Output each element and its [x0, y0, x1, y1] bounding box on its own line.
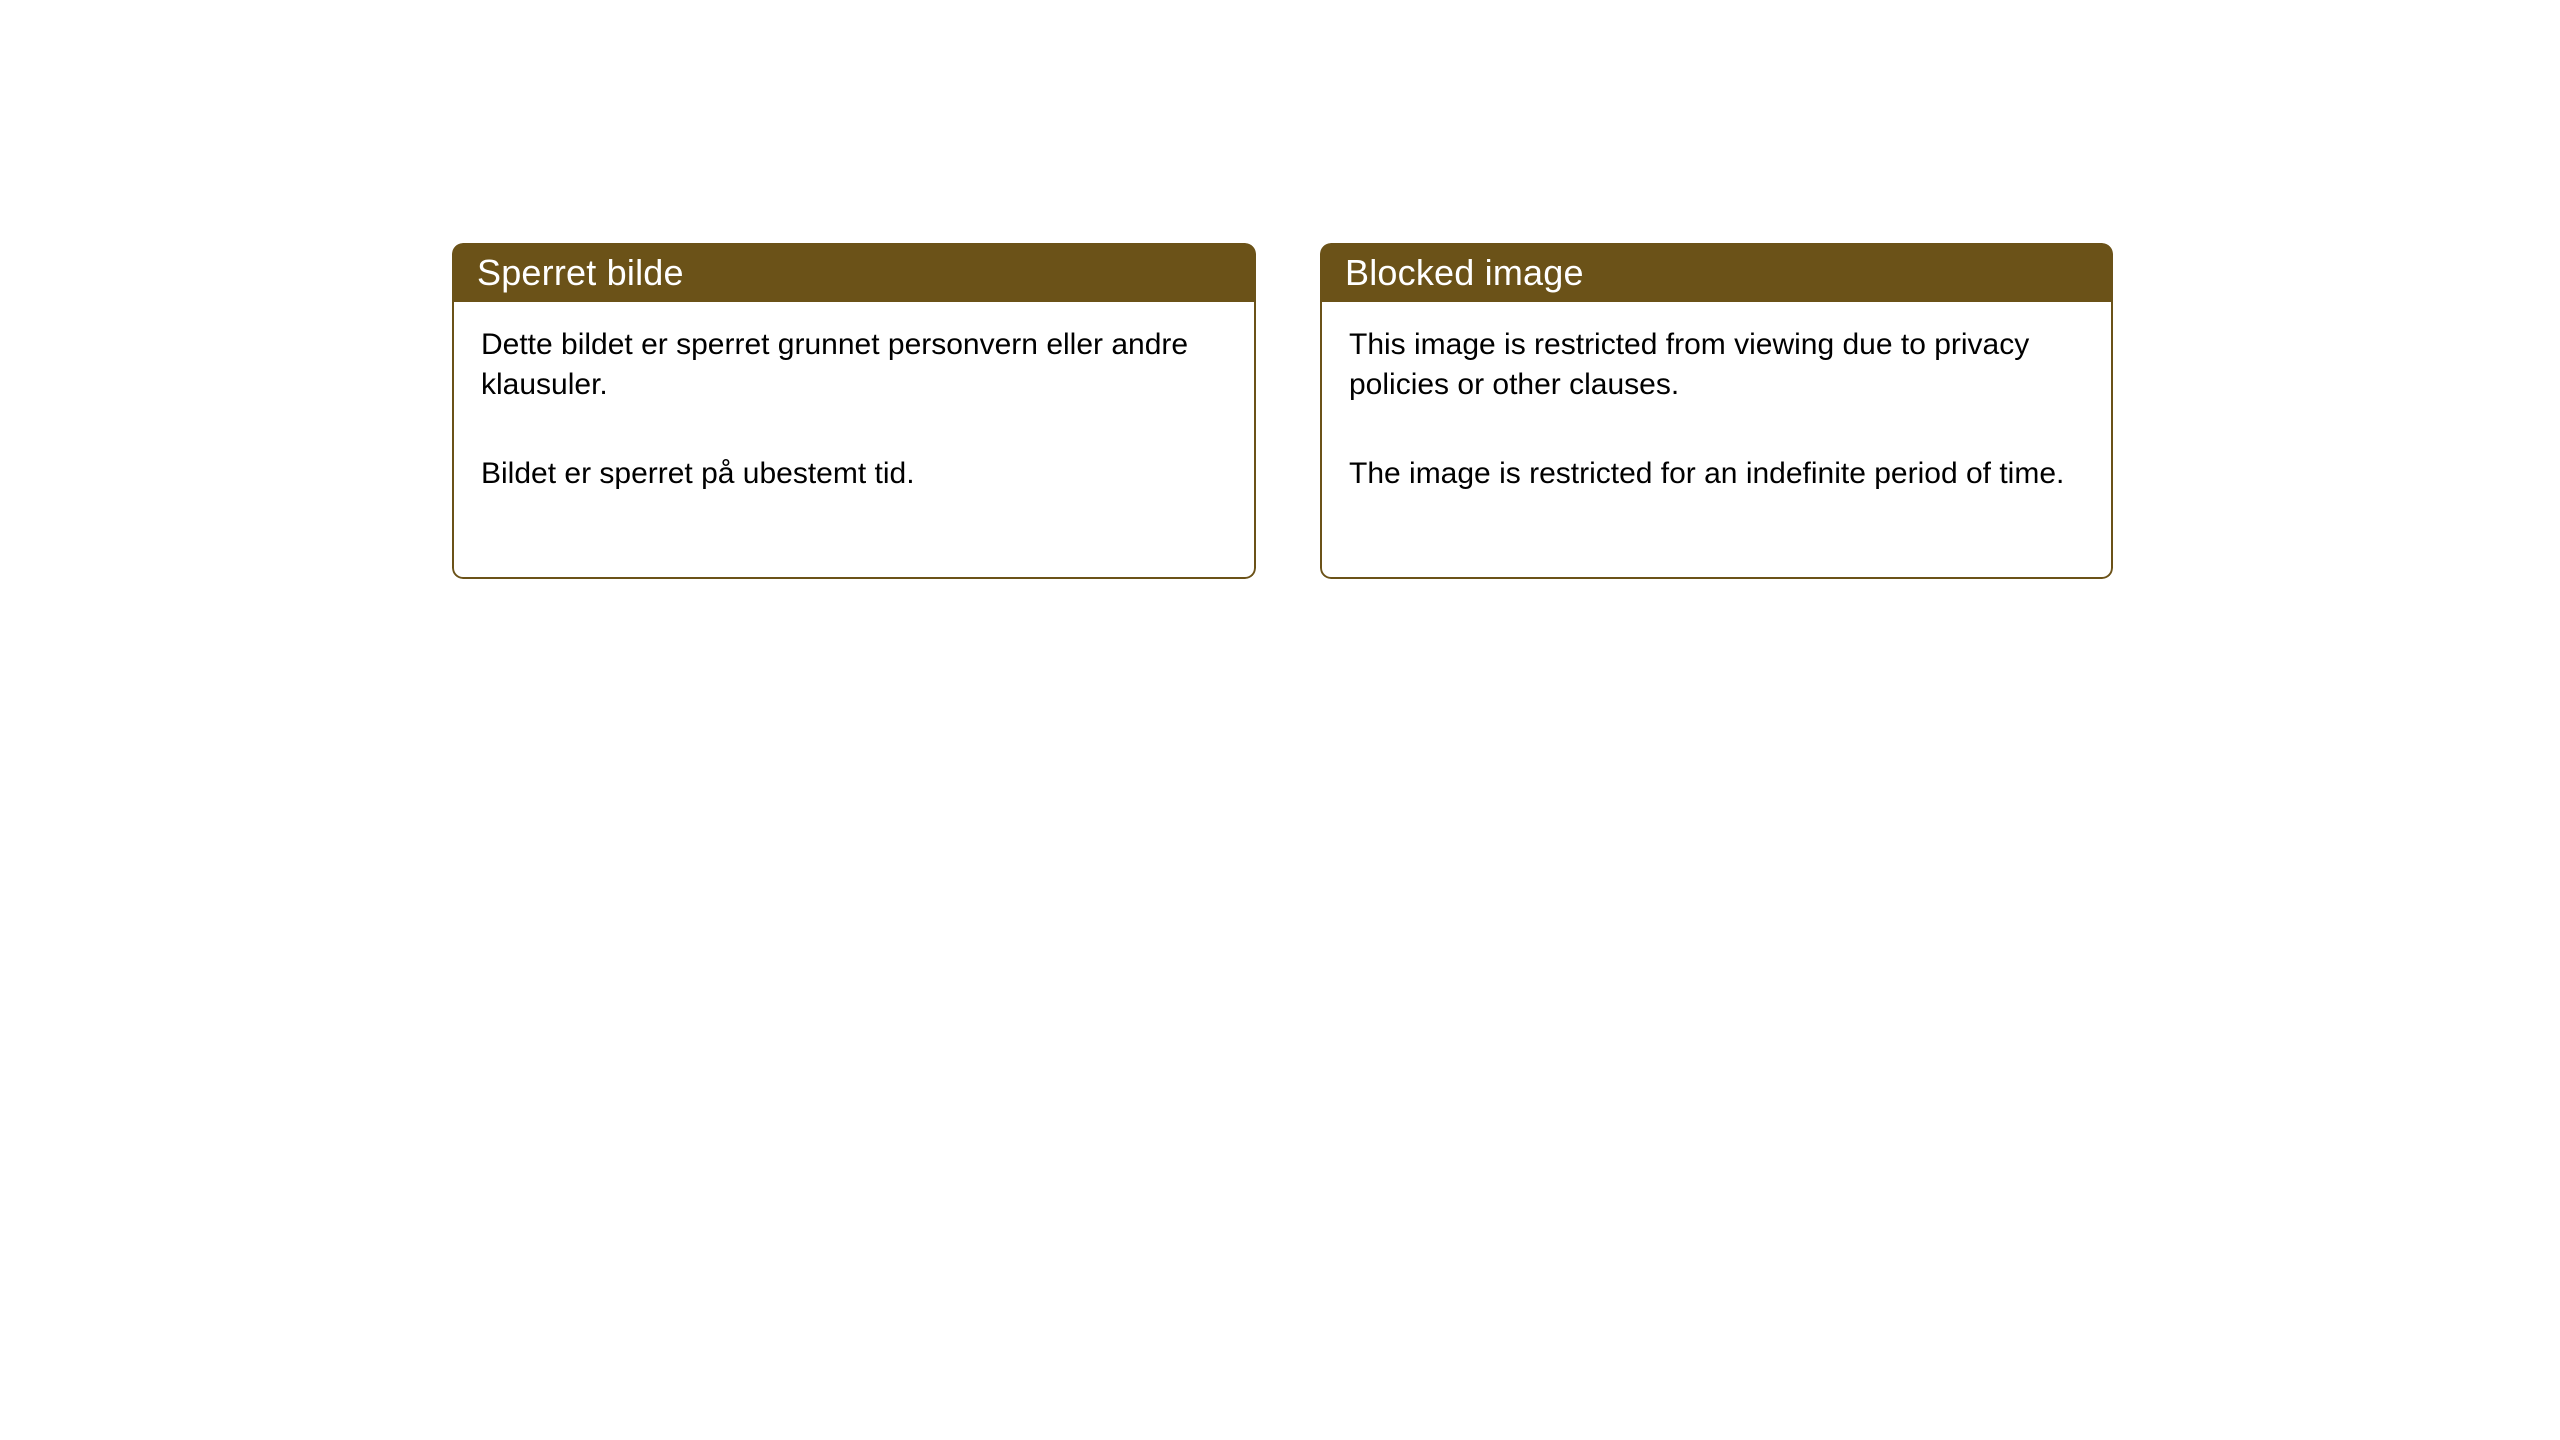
- notice-body-norwegian: Dette bildet er sperret grunnet personve…: [452, 302, 1256, 579]
- notice-title-norwegian: Sperret bilde: [477, 255, 684, 291]
- blocked-image-notice-group: Sperret bilde Dette bildet er sperret gr…: [452, 243, 2113, 579]
- notice-paragraph-duration-english: The image is restricted for an indefinit…: [1349, 454, 2091, 494]
- notice-paragraph-reason-norwegian: Dette bildet er sperret grunnet personve…: [481, 325, 1234, 404]
- notice-header-english: Blocked image: [1320, 243, 2113, 302]
- notice-paragraph-reason-english: This image is restricted from viewing du…: [1349, 325, 2091, 404]
- notice-paragraph-duration-norwegian: Bildet er sperret på ubestemt tid.: [481, 454, 1234, 494]
- blocked-image-notice-card-english: Blocked image This image is restricted f…: [1320, 243, 2113, 579]
- blocked-image-notice-card-norwegian: Sperret bilde Dette bildet er sperret gr…: [452, 243, 1256, 579]
- notice-body-english: This image is restricted from viewing du…: [1320, 302, 2113, 579]
- notice-title-english: Blocked image: [1345, 255, 1584, 291]
- notice-header-norwegian: Sperret bilde: [452, 243, 1256, 302]
